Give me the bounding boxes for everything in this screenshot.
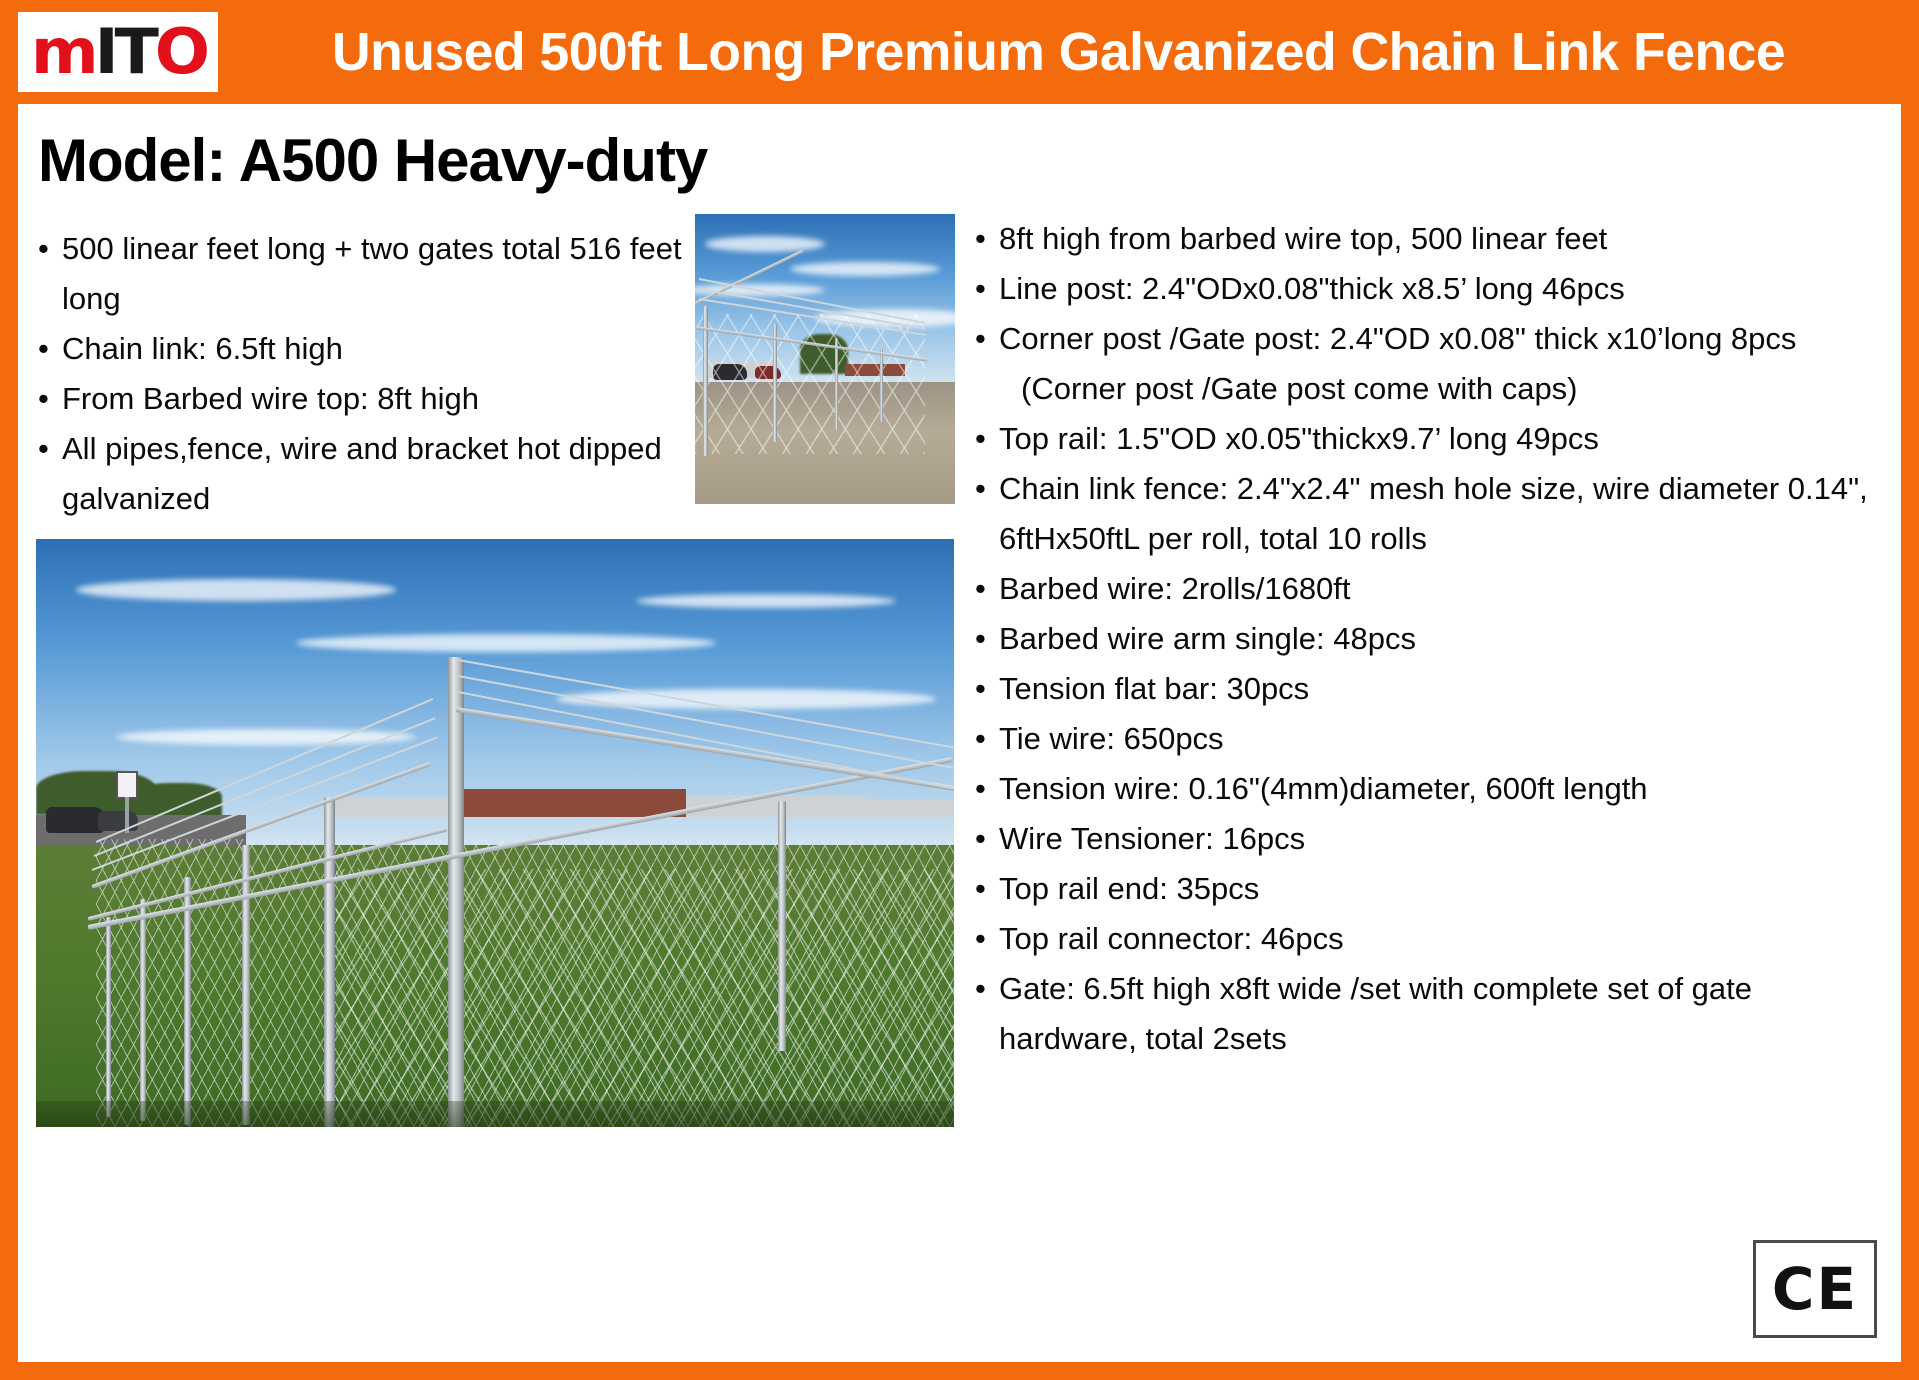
list-item: 500 linear feet long + two gates total 5… — [36, 224, 696, 324]
list-item: 8ft high from barbed wire top, 500 linea… — [973, 214, 1883, 264]
list-item: Top rail end: 35pcs — [973, 864, 1883, 914]
list-item: Tie wire: 650pcs — [973, 714, 1883, 764]
list-item-text: Tension flat bar: 30pcs — [999, 671, 1309, 706]
list-item: From Barbed wire top: 8ft high — [36, 374, 696, 424]
page-title: Unused 500ft Long Premium Galvanized Cha… — [227, 24, 1911, 80]
logo-wordmark: mITO — [30, 21, 205, 83]
list-item: Barbed wire: 2rolls/1680ft — [973, 564, 1883, 614]
list-item-subtext: (Corner post /Gate post come with caps) — [999, 364, 1883, 414]
logo-letter-o: O — [154, 15, 205, 88]
list-item-text: Top rail end: 35pcs — [999, 871, 1259, 906]
list-item: All pipes,fence, wire and bracket hot di… — [36, 424, 696, 524]
header-bar: mITO Unused 500ft Long Premium Galvanize… — [0, 0, 1919, 104]
model-heading: Model: A500 Heavy-duty — [38, 126, 707, 195]
list-item: Gate: 6.5ft high x8ft wide /set with com… — [973, 964, 1883, 1064]
list-item-text: Top rail connector: 46pcs — [999, 921, 1344, 956]
left-bullet-list: 500 linear feet long + two gates total 5… — [36, 224, 696, 524]
speed-limit-sign — [116, 771, 138, 799]
right-bullet-list: 8ft high from barbed wire top, 500 linea… — [973, 214, 1883, 1064]
list-item: Top rail connector: 46pcs — [973, 914, 1883, 964]
list-item-text: Gate: 6.5ft high x8ft wide /set with com… — [999, 971, 1752, 1056]
logo-letter-m: m — [30, 15, 94, 88]
left-spec-column: 500 linear feet long + two gates total 5… — [36, 224, 696, 524]
ce-mark-label: CE — [1772, 1260, 1858, 1318]
product-spec-sheet: mITO Unused 500ft Long Premium Galvanize… — [0, 0, 1919, 1380]
list-item-text: Line post: 2.4"ODx0.08"thick x8.5’ long … — [999, 271, 1625, 306]
list-item: Chain link fence: 2.4"x2.4" mesh hole si… — [973, 464, 1883, 564]
list-item-text: Tension wire: 0.16"(4mm)diameter, 600ft … — [999, 771, 1648, 806]
list-item: Chain link: 6.5ft high — [36, 324, 696, 374]
list-item-text: Top rail: 1.5"OD x0.05"thickx9.7’ long 4… — [999, 421, 1599, 456]
list-item: Line post: 2.4"ODx0.08"thick x8.5’ long … — [973, 264, 1883, 314]
list-item: Corner post /Gate post: 2.4"OD x0.08" th… — [973, 314, 1883, 414]
list-item: Barbed wire arm single: 48pcs — [973, 614, 1883, 664]
brand-logo: mITO — [18, 12, 218, 92]
list-item-text: 8ft high from barbed wire top, 500 linea… — [999, 221, 1607, 256]
right-spec-column: 8ft high from barbed wire top, 500 linea… — [973, 214, 1883, 1064]
list-item: Top rail: 1.5"OD x0.05"thickx9.7’ long 4… — [973, 414, 1883, 464]
list-item-text: Corner post /Gate post: 2.4"OD x0.08" th… — [999, 321, 1796, 356]
list-item: Tension flat bar: 30pcs — [973, 664, 1883, 714]
list-item-text: Chain link fence: 2.4"x2.4" mesh hole si… — [999, 471, 1868, 556]
list-item-text: Barbed wire: 2rolls/1680ft — [999, 571, 1351, 606]
list-item-text: Tie wire: 650pcs — [999, 721, 1224, 756]
content-card: Model: A500 Heavy-duty 500 linear feet l… — [18, 104, 1901, 1362]
list-item: Wire Tensioner: 16pcs — [973, 814, 1883, 864]
list-item-text: Wire Tensioner: 16pcs — [999, 821, 1305, 856]
ce-mark-badge: CE — [1753, 1240, 1877, 1338]
list-item: Tension wire: 0.16"(4mm)diameter, 600ft … — [973, 764, 1883, 814]
fence-photo-large — [36, 539, 954, 1127]
list-item-text: Barbed wire arm single: 48pcs — [999, 621, 1416, 656]
fence-photo-small — [695, 214, 955, 504]
logo-letters-it: IT — [94, 15, 154, 88]
